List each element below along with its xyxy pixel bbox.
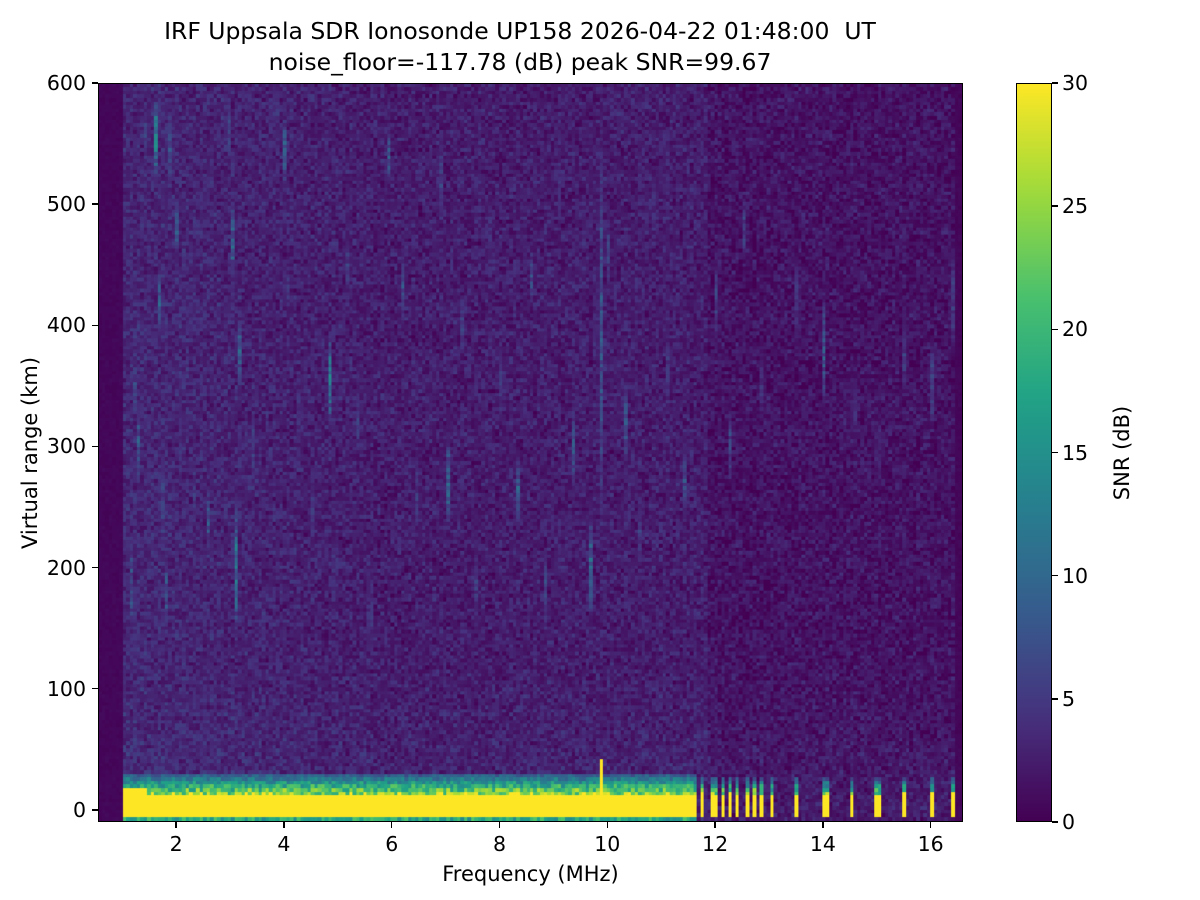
x-tick-label: 16 (918, 832, 944, 856)
title-line-1: IRF Uppsala SDR Ionosonde UP158 2026-04-… (0, 16, 1040, 47)
x-tick-label: 12 (702, 832, 728, 856)
colorbar-tick-mark (1052, 698, 1058, 699)
colorbar-tick-label: 5 (1062, 687, 1075, 711)
colorbar[interactable] (1016, 83, 1052, 822)
colorbar-label: SNR (dB) (1110, 405, 1134, 499)
x-tick-mark (714, 822, 715, 828)
colorbar-tick-label: 30 (1062, 71, 1088, 95)
y-tick-label: 0 (0, 798, 86, 822)
x-tick-mark (391, 822, 392, 828)
figure-title: IRF Uppsala SDR Ionosonde UP158 2026-04-… (0, 16, 1040, 77)
title-line-2: noise_floor=-117.78 (dB) peak SNR=99.67 (0, 47, 1040, 78)
y-tick-mark (92, 809, 98, 810)
colorbar-tick-label: 20 (1062, 317, 1088, 341)
x-tick-label: 4 (277, 832, 290, 856)
y-tick-mark (92, 203, 98, 204)
x-tick-label: 14 (810, 832, 836, 856)
x-tick-label: 10 (594, 832, 620, 856)
y-tick-label: 400 (0, 313, 86, 337)
colorbar-tick-mark (1052, 575, 1058, 576)
ionogram-plot-area[interactable] (98, 83, 963, 822)
x-tick-mark (822, 822, 823, 828)
y-tick-label: 600 (0, 71, 86, 95)
x-tick-mark (283, 822, 284, 828)
colorbar-tick-mark (1052, 821, 1058, 822)
colorbar-tick-label: 0 (1062, 810, 1075, 834)
y-tick-label: 300 (0, 434, 86, 458)
y-tick-label: 100 (0, 677, 86, 701)
x-tick-mark (175, 822, 176, 828)
colorbar-tick-mark (1052, 205, 1058, 206)
y-tick-mark (92, 446, 98, 447)
x-tick-label: 8 (493, 832, 506, 856)
colorbar-tick-mark (1052, 82, 1058, 83)
y-tick-mark (92, 82, 98, 83)
y-tick-mark (92, 688, 98, 689)
y-axis-label: Virtual range (km) (18, 356, 42, 548)
colorbar-tick-label: 15 (1062, 441, 1088, 465)
y-tick-mark (92, 325, 98, 326)
colorbar-tick-label: 25 (1062, 194, 1088, 218)
x-tick-label: 2 (170, 832, 183, 856)
y-tick-mark (92, 567, 98, 568)
x-axis-label: Frequency (MHz) (442, 862, 618, 886)
x-tick-label: 6 (385, 832, 398, 856)
y-tick-label: 200 (0, 556, 86, 580)
colorbar-tick-label: 10 (1062, 564, 1088, 588)
x-tick-mark (499, 822, 500, 828)
colorbar-tick-mark (1052, 329, 1058, 330)
colorbar-tick-mark (1052, 452, 1058, 453)
y-tick-label: 500 (0, 192, 86, 216)
x-tick-mark (607, 822, 608, 828)
ionogram-figure: IRF Uppsala SDR Ionosonde UP158 2026-04-… (0, 0, 1200, 900)
colorbar-gradient (1017, 84, 1051, 821)
ionogram-heatmap-canvas (99, 84, 962, 821)
x-tick-mark (930, 822, 931, 828)
